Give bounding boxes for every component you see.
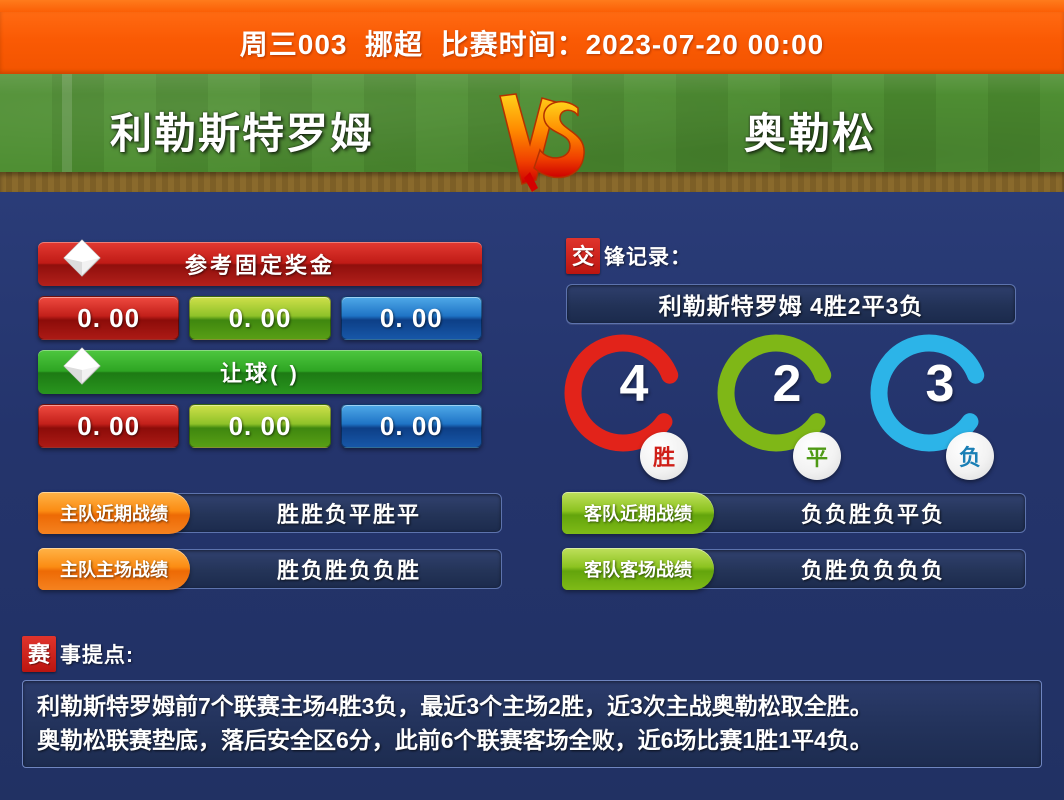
handicap-odds-draw[interactable]: 0. 00 (189, 404, 330, 448)
away-venue-form-label: 客队客场战绩 (562, 548, 714, 590)
away-venue-form-value: 负胜负负负负 (680, 549, 1026, 589)
h2h-draw-badge: 平 (793, 432, 841, 480)
top-accent-strip (0, 0, 1064, 12)
home-form-column: 主队近期战绩 胜胜负平胜平 主队主场战绩 胜负胜负负胜 (38, 492, 502, 604)
away-venue-form-row: 客队客场战绩 负胜负负负负 (562, 548, 1026, 590)
fixed-odds-away[interactable]: 0. 00 (341, 296, 482, 340)
fixed-odds-home[interactable]: 0. 00 (38, 296, 179, 340)
analysis-title: 事提点: (60, 639, 134, 669)
home-team-name: 利勒斯特罗姆 (110, 100, 374, 161)
match-header-bar: 周三003 挪超 比赛时间：2023-07-20 00:00 (0, 12, 1064, 74)
handicap-odds-home[interactable]: 0. 00 (38, 404, 179, 448)
h2h-draw-count: 2 (711, 348, 841, 420)
analysis-badge-char: 赛 (22, 636, 56, 672)
head-to-head-rings: 4 胜 2 平 3 负 (548, 328, 1018, 488)
h2h-win-badge: 胜 (640, 432, 688, 480)
analysis-line-2: 奥勒松联赛垫底，落后安全区6分，此前6个联赛客场全败，近6场比赛1胜1平4负。 (37, 723, 1027, 757)
analysis-line-1: 利勒斯特罗姆前7个联赛主场4胜3负，最近3个主场2胜，近3次主战奥勒松取全胜。 (37, 689, 1027, 723)
fixed-prize-odds-row: 0. 00 0. 00 0. 00 (38, 296, 482, 340)
handicap-odds-away[interactable]: 0. 00 (341, 404, 482, 448)
h2h-ring-draw: 2 平 (711, 328, 841, 480)
h2h-ring-win: 4 胜 (558, 328, 688, 480)
match-header-title: 周三003 挪超 比赛时间：2023-07-20 00:00 (240, 23, 824, 63)
home-recent-form-value: 胜胜负平胜平 (156, 493, 502, 533)
h2h-loss-count: 3 (864, 348, 994, 420)
home-recent-form-label: 主队近期战绩 (38, 492, 190, 534)
h2h-summary: 利勒斯特罗姆 4胜2平3负 (566, 284, 1016, 324)
odds-panel: 参考固定奖金 0. 00 0. 00 0. 00 让球( ) 0. 00 0. … (38, 242, 482, 458)
fixed-prize-header: 参考固定奖金 (38, 242, 482, 286)
h2h-ring-loss: 3 负 (864, 328, 994, 480)
head-to-head-panel: 交 锋记录： 利勒斯特罗姆 4胜2平3负 (566, 238, 1016, 324)
diamond-icon (60, 344, 104, 388)
h2h-title: 锋记录： (604, 241, 692, 271)
main-content-area: 参考固定奖金 0. 00 0. 00 0. 00 让球( ) 0. 00 0. … (0, 192, 1064, 800)
fixed-prize-label: 参考固定奖金 (185, 248, 335, 280)
h2h-badge-char: 交 (566, 238, 600, 274)
away-recent-form-label: 客队近期战绩 (562, 492, 714, 534)
away-team-name: 奥勒松 (744, 100, 876, 161)
vs-icon (486, 88, 592, 193)
home-venue-form-value: 胜负胜负负胜 (156, 549, 502, 589)
analysis-heading: 赛 事提点: (22, 636, 1042, 672)
home-venue-form-label: 主队主场战绩 (38, 548, 190, 590)
away-form-column: 客队近期战绩 负负胜负平负 客队客场战绩 负胜负负负负 (562, 492, 1026, 604)
home-venue-form-row: 主队主场战绩 胜负胜负负胜 (38, 548, 502, 590)
handicap-label: 让球( ) (220, 356, 300, 388)
away-recent-form-row: 客队近期战绩 负负胜负平负 (562, 492, 1026, 534)
handicap-odds-row: 0. 00 0. 00 0. 00 (38, 404, 482, 448)
diamond-icon (60, 236, 104, 280)
away-recent-form-value: 负负胜负平负 (680, 493, 1026, 533)
h2h-win-count: 4 (558, 348, 688, 420)
analysis-text-box: 利勒斯特罗姆前7个联赛主场4胜3负，最近3个主场2胜，近3次主战奥勒松取全胜。 … (22, 680, 1042, 768)
handicap-header: 让球( ) (38, 350, 482, 394)
analysis-panel: 赛 事提点: 利勒斯特罗姆前7个联赛主场4胜3负，最近3个主场2胜，近3次主战奥… (22, 636, 1042, 768)
h2h-loss-badge: 负 (946, 432, 994, 480)
head-to-head-heading: 交 锋记录： (566, 238, 1016, 274)
fixed-odds-draw[interactable]: 0. 00 (189, 296, 330, 340)
home-recent-form-row: 主队近期战绩 胜胜负平胜平 (38, 492, 502, 534)
match-preview-page: 周三003 挪超 比赛时间：2023-07-20 00:00 利勒斯特罗姆 奥勒… (0, 0, 1064, 800)
